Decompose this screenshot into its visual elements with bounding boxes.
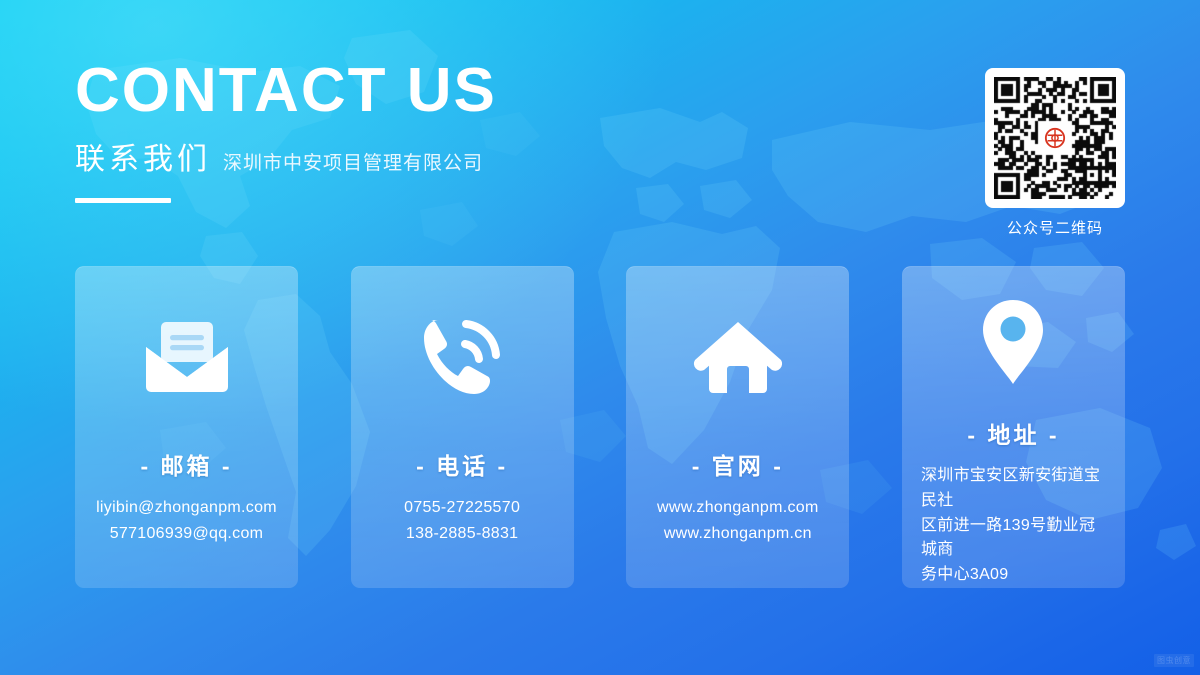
contact-cards: - 邮箱 - liyibin@zhonganpm.com 577106939@q… (75, 266, 1125, 588)
contact-card-website[interactable]: - 官网 - www.zhonganpm.com www.zhonganpm.c… (626, 266, 849, 588)
map-pin-icon (978, 267, 1048, 416)
card-title: - 邮箱 - (140, 447, 232, 481)
circle-seal-icon (1040, 123, 1070, 153)
card-lines: www.zhonganpm.com www.zhonganpm.cn (626, 495, 849, 547)
watermark: 图虫创意 (1154, 654, 1194, 667)
page-title-en: CONTACT US (75, 58, 497, 123)
address-line-1: 深圳市宝安区新安街道宝民社 (912, 464, 1115, 514)
qr-code-card[interactable] (985, 68, 1125, 208)
email-line-1[interactable]: liyibin@zhonganpm.com (85, 495, 288, 521)
contact-card-email[interactable]: - 邮箱 - liyibin@zhonganpm.com 577106939@q… (75, 266, 298, 588)
address-line-2: 区前进一路139号勤业冠城商 (912, 514, 1115, 564)
website-line-2[interactable]: www.zhonganpm.cn (636, 521, 839, 547)
home-icon (691, 267, 785, 447)
card-title: - 地址 - (967, 416, 1059, 450)
page-title-cn: 联系我们 (75, 134, 211, 178)
phone-line-1[interactable]: 0755-27225570 (361, 495, 564, 521)
header-block: CONTACT US 联系我们 深圳市中安项目管理有限公司 (75, 58, 497, 203)
card-lines: 深圳市宝安区新安街道宝民社 区前进一路139号勤业冠城商 务中心3A09 (902, 464, 1125, 588)
phone-line-2[interactable]: 138-2885-8831 (361, 521, 564, 547)
contact-us-banner: CONTACT US 联系我们 深圳市中安项目管理有限公司 公众号二维码 (0, 0, 1200, 675)
contact-card-address[interactable]: - 地址 - 深圳市宝安区新安街道宝民社 区前进一路139号勤业冠城商 务中心3… (902, 266, 1125, 588)
qr-block: 公众号二维码 (985, 68, 1125, 238)
qr-code-label: 公众号二维码 (985, 217, 1125, 238)
website-line-1[interactable]: www.zhonganpm.com (636, 495, 839, 521)
envelope-icon (140, 267, 234, 447)
card-lines: liyibin@zhonganpm.com 577106939@qq.com (75, 495, 298, 547)
card-title: - 电话 - (416, 447, 508, 481)
contact-card-phone[interactable]: - 电话 - 0755-27225570 138-2885-8831 (351, 266, 574, 588)
company-name: 深圳市中安项目管理有限公司 (223, 148, 483, 175)
subtitle-row: 联系我们 深圳市中安项目管理有限公司 (75, 134, 497, 178)
address-line-3: 务中心3A09 (912, 563, 1115, 588)
phone-icon (416, 267, 508, 447)
card-title: - 官网 - (692, 447, 784, 481)
email-line-2[interactable]: 577106939@qq.com (85, 521, 288, 547)
card-lines: 0755-27225570 138-2885-8831 (351, 495, 574, 547)
title-divider (75, 198, 171, 203)
